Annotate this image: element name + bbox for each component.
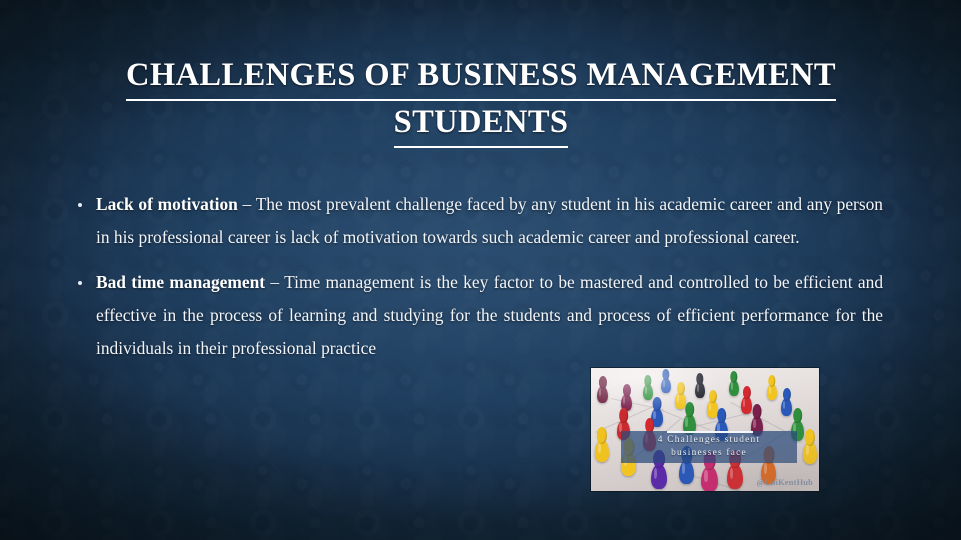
slide-body: Lack of motivation – The most prevalent …: [78, 188, 883, 377]
photo-watermark: @UniKentHub: [756, 478, 813, 487]
pawn-icon: [597, 386, 608, 403]
bullet-2-dash: –: [265, 272, 284, 292]
pawn-icon: [803, 442, 817, 464]
caption-line-2: businesses face: [625, 447, 793, 460]
slide-canvas: CHALLENGES OF BUSINESS MANAGEMENT STUDEN…: [0, 0, 961, 540]
bullet-paragraph-1: Lack of motivation – The most prevalent …: [96, 188, 883, 254]
challenges-photo: 4 Challenges student businesses face @Un…: [591, 368, 819, 491]
slide-title: CHALLENGES OF BUSINESS MANAGEMENT STUDEN…: [88, 54, 874, 148]
pawn-icon: [651, 464, 667, 489]
bullet-dot-icon: [78, 188, 96, 210]
title-line-1: CHALLENGES OF BUSINESS MANAGEMENT: [88, 54, 874, 101]
bullet-1-dash: –: [238, 194, 256, 214]
pawn-icon: [701, 466, 718, 491]
pawn-icon: [679, 460, 694, 484]
bullet-1-lead: Lack of motivation: [96, 194, 238, 214]
list-item: Bad time management – Time management is…: [78, 266, 883, 365]
pawn-icon: [695, 382, 705, 398]
pawn-icon: [661, 378, 671, 393]
caption-rule: [667, 431, 753, 433]
list-item: Lack of motivation – The most prevalent …: [78, 188, 883, 254]
pawn-icon: [595, 440, 609, 462]
pawn-icon: [643, 384, 653, 400]
pawn-icon: [781, 398, 792, 416]
caption-line-1: 4 Challenges student: [625, 434, 793, 447]
title-line-2: STUDENTS: [88, 101, 874, 148]
photo-caption: 4 Challenges student businesses face: [621, 431, 797, 463]
bullet-2-lead: Bad time management: [96, 272, 265, 292]
title-line-1-text: CHALLENGES OF BUSINESS MANAGEMENT: [126, 54, 836, 101]
title-line-2-text: STUDENTS: [394, 101, 569, 148]
pawn-icon: [767, 384, 777, 400]
pawn-icon: [727, 464, 743, 489]
bullet-paragraph-2: Bad time management – Time management is…: [96, 266, 883, 365]
bullet-dot-icon: [78, 266, 96, 288]
pawn-icon: [729, 380, 739, 396]
pawn-icon: [741, 396, 752, 414]
